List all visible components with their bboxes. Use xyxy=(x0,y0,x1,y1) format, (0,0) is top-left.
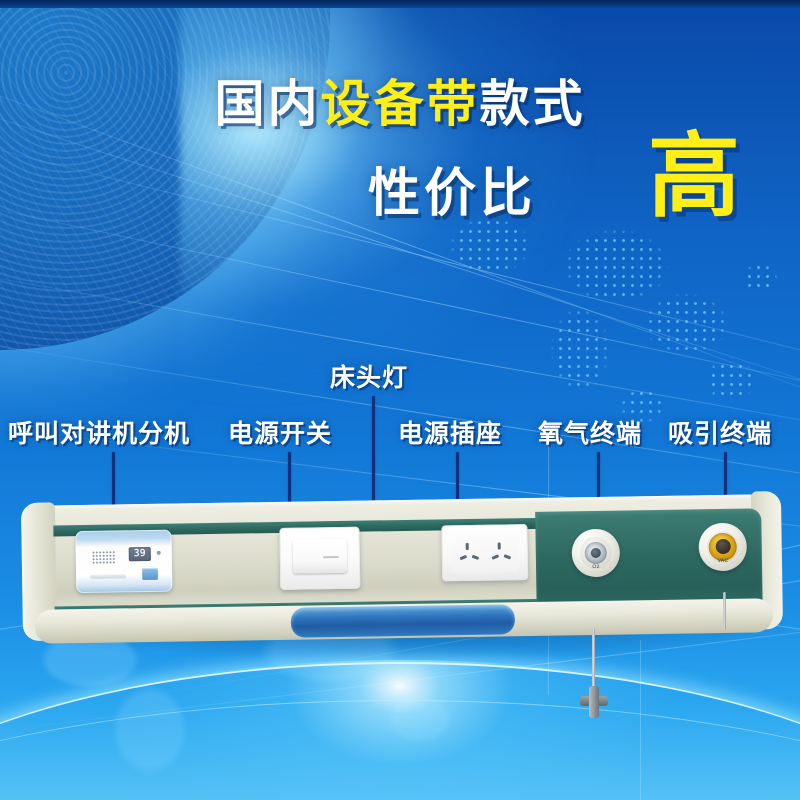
callout-label-power-outlet: 电源插座 xyxy=(398,414,502,450)
bed-lamp-diffuser xyxy=(291,604,515,638)
universal-socket-icon xyxy=(451,532,518,573)
oxygen-port-core xyxy=(591,548,601,558)
callout-label-power-switch: 电源开关 xyxy=(228,414,332,450)
callout-label-bed-lamp: 床头灯 xyxy=(330,358,408,394)
power-switch[interactable] xyxy=(279,527,360,590)
callout-label-suction-terminal: 吸引终端 xyxy=(668,414,772,450)
suction-terminal-mark: VAC xyxy=(699,558,747,565)
suction-drain-cord xyxy=(723,592,726,630)
call-button[interactable] xyxy=(142,568,158,580)
pull-cord[interactable] xyxy=(592,628,595,690)
promo-banner: 国内设备带款式 性价比 高 呼叫对讲机分机 电源开关 床头灯 电源插座 氧气终端… xyxy=(0,0,800,800)
pull-cord-plug-icon[interactable] xyxy=(580,686,608,718)
callout-label-intercom: 呼叫对讲机分机 xyxy=(8,414,190,450)
power-outlet[interactable] xyxy=(441,524,528,581)
intercom-slot xyxy=(90,574,126,579)
speaker-grille-icon xyxy=(92,550,116,564)
status-led-icon xyxy=(157,551,161,555)
callout-label-oxygen-terminal: 氧气终端 xyxy=(538,414,642,450)
switch-notch xyxy=(323,556,339,558)
intercom-display: 39 xyxy=(129,547,151,561)
plug-arm-vertical xyxy=(589,686,599,718)
rocker-switch-icon[interactable] xyxy=(293,539,348,574)
oxygen-terminal-mark: O2 xyxy=(572,564,620,571)
nurse-call-intercom[interactable]: 39 xyxy=(75,530,172,594)
callout-layer: 呼叫对讲机分机 电源开关 床头灯 电源插座 氧气终端 吸引终端 xyxy=(0,0,800,800)
medical-equipment-panel: 39 O2 xyxy=(27,494,777,638)
